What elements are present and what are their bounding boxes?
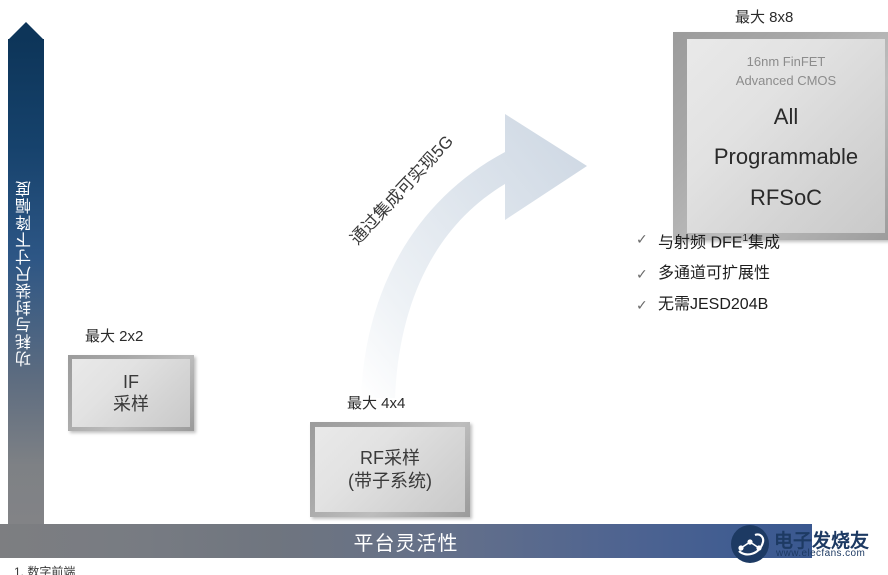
rfsoc-title-line2: Programmable bbox=[714, 143, 858, 172]
growth-arrow-icon bbox=[355, 80, 655, 400]
rfsoc-title-line1: All bbox=[774, 103, 798, 132]
footnote: 1. 数字前端 bbox=[14, 563, 75, 575]
y-axis-arrow bbox=[8, 22, 44, 524]
rf-box-line2: (带子系统) bbox=[348, 470, 432, 493]
if-box-caption: 最大 2x2 bbox=[85, 325, 143, 346]
if-box-line2: 采样 bbox=[113, 393, 149, 416]
feature-bullet-list: ✓ 与射频 DFE1集成 ✓ 多通道可扩展性 ✓ 无需JESD204B bbox=[636, 228, 780, 325]
rf-sampling-box-inner: RF采样 (带子系统) bbox=[315, 427, 465, 512]
list-item: ✓ 无需JESD204B bbox=[636, 294, 780, 316]
bullet-text-1: 与射频 DFE1集成 bbox=[658, 228, 780, 254]
list-item: ✓ 与射频 DFE1集成 bbox=[636, 228, 780, 254]
rf-box-caption: 最大 4x4 bbox=[347, 392, 405, 413]
slide-canvas: 功耗与封装尺寸下降幅度 通过集成可实现5G 最大 2x2 IF 采样 最大 4x… bbox=[0, 0, 888, 575]
rfsoc-process-line1: 16nm FinFET bbox=[747, 53, 826, 72]
if-sampling-box-inner: IF 采样 bbox=[72, 359, 190, 427]
y-axis-arrowhead-icon bbox=[8, 22, 44, 40]
rfsoc-box: 16nm FinFET Advanced CMOS All Programmab… bbox=[673, 32, 888, 240]
rf-box-line1: RF采样 bbox=[360, 447, 420, 470]
if-box-line1: IF bbox=[123, 371, 139, 394]
rf-sampling-box: RF采样 (带子系统) bbox=[310, 422, 470, 517]
rfsoc-title-line3: RFSoC bbox=[750, 184, 822, 213]
bullet-text-2: 多通道可扩展性 bbox=[658, 263, 770, 285]
bullet-text-3: 无需JESD204B bbox=[658, 294, 768, 316]
watermark: 电子发烧友 www.elecfans.com bbox=[730, 524, 882, 568]
list-item: ✓ 多通道可扩展性 bbox=[636, 263, 780, 285]
y-axis-shaft bbox=[8, 39, 44, 524]
check-icon: ✓ bbox=[636, 294, 658, 316]
watermark-url: www.elecfans.com bbox=[776, 548, 865, 559]
check-icon: ✓ bbox=[636, 228, 658, 250]
x-axis-bar bbox=[0, 524, 812, 558]
if-sampling-box: IF 采样 bbox=[68, 355, 194, 431]
check-icon: ✓ bbox=[636, 263, 658, 285]
rfsoc-box-caption: 最大 8x8 bbox=[735, 6, 793, 27]
rfsoc-process-line2: Advanced CMOS bbox=[736, 72, 836, 91]
rfsoc-box-inner: 16nm FinFET Advanced CMOS All Programmab… bbox=[687, 39, 885, 233]
